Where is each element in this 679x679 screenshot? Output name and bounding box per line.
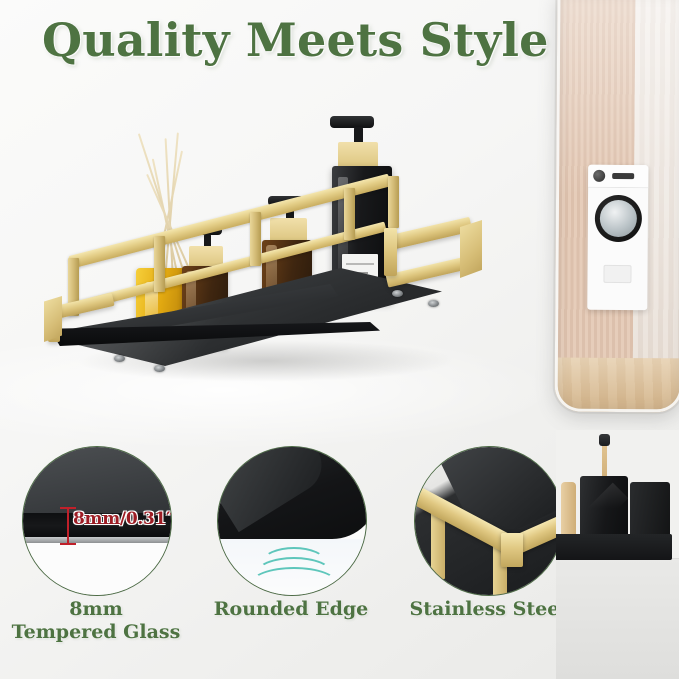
mounting-screw	[428, 300, 439, 307]
feature-label-line1: Rounded Edge	[201, 598, 381, 621]
measurement-caliper-icon	[67, 507, 69, 545]
washer-display	[612, 173, 634, 179]
gold-corner-joint	[501, 533, 523, 567]
feature-label-line2: Tempered Glass	[6, 621, 186, 644]
feature-callout-stainless-steel	[414, 446, 564, 596]
feature-label-rounded-edge: Rounded Edge	[201, 598, 381, 621]
feature-label-line1: 8mm	[6, 598, 186, 621]
washer-door-glass	[600, 200, 637, 237]
washer-label	[603, 265, 631, 283]
feature-callout-tempered-glass: 8mm/0.31″	[22, 446, 172, 596]
wood-floor-reflection	[555, 358, 679, 413]
black-tray	[556, 534, 672, 560]
feature-label-tempered-glass: 8mm Tempered Glass	[6, 598, 186, 644]
thickness-measurement-text: 8mm/0.31″	[73, 509, 172, 529]
pump-head	[330, 116, 374, 128]
callout-white-ground	[22, 543, 172, 596]
mounting-screw	[392, 290, 403, 297]
feature-callout-rounded-edge	[217, 446, 367, 596]
vignette-countertop	[556, 558, 679, 679]
wood-handle-brush	[561, 482, 576, 540]
wall-mount-plate-left	[44, 296, 62, 342]
mirror-scene	[555, 0, 679, 412]
black-container	[630, 482, 670, 538]
wall-bracket-upright	[384, 228, 397, 276]
washing-machine-reflection	[587, 165, 648, 310]
toothbrush-head-icon	[599, 434, 610, 446]
bottle-collar	[338, 142, 378, 168]
washer-door	[595, 195, 642, 242]
wall-bracket-arm-lower	[386, 257, 465, 287]
wall-mount-plate	[460, 220, 482, 278]
gold-rail-post	[154, 236, 165, 292]
black-toothbrush-cup	[580, 476, 628, 538]
gold-rail-post	[388, 176, 399, 228]
product-infographic: Quality Meets Style	[0, 0, 679, 679]
glass-top-surface	[22, 446, 172, 515]
wall-bracket-arm	[387, 217, 472, 251]
feature-label-stainless-steel: Stainless Steel	[398, 598, 578, 621]
mounting-screw	[154, 365, 165, 372]
smoothness-arc-icon	[250, 567, 338, 596]
bathroom-vignette	[556, 430, 679, 679]
page-title: Quality Meets Style	[42, 16, 562, 64]
gold-rail-post	[344, 188, 355, 240]
gold-rail-post	[250, 212, 261, 266]
washer-knob	[593, 170, 605, 182]
feature-label-line1: Stainless Steel	[398, 598, 578, 621]
mounting-screw	[114, 355, 125, 362]
bottle-collar	[270, 218, 307, 242]
hero-shelf	[36, 108, 506, 408]
